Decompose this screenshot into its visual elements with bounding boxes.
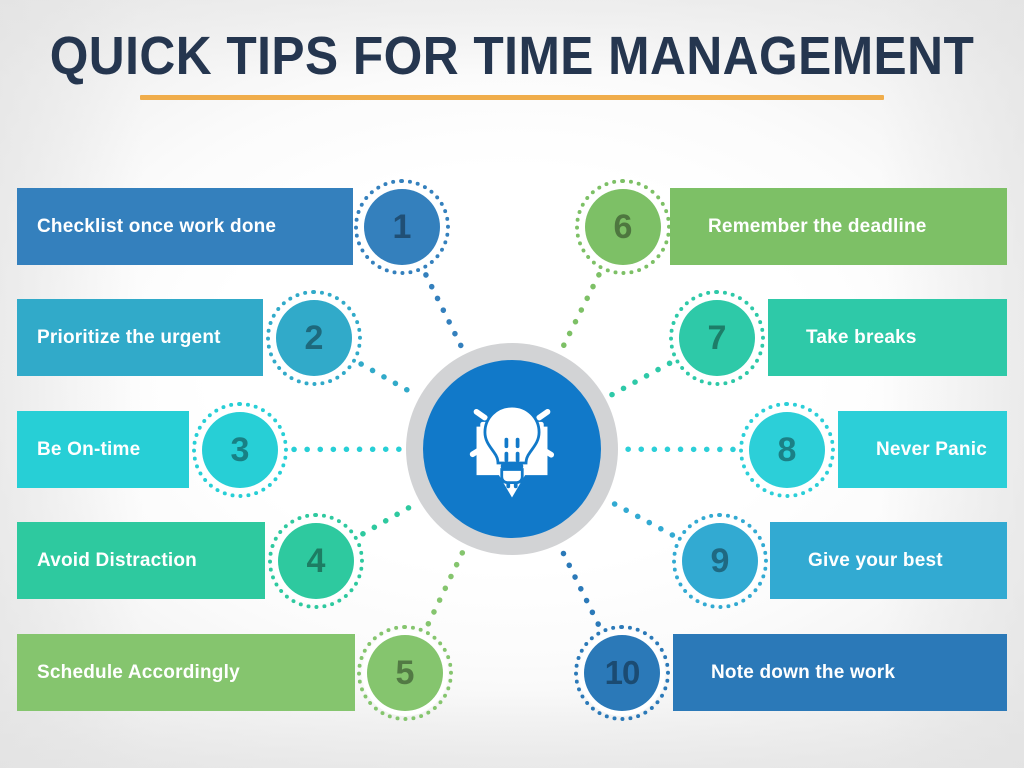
tip-number-badge[interactable]: 10 <box>572 623 672 723</box>
title-underline <box>140 95 884 100</box>
badge-disc: 9 <box>682 523 758 599</box>
badge-disc: 8 <box>749 412 825 488</box>
badge-number: 6 <box>614 210 633 244</box>
tip-number-badge[interactable]: 6 <box>573 177 673 277</box>
badge-number: 10 <box>605 656 640 689</box>
badge-disc: 6 <box>585 189 661 265</box>
lightbulb-pin-icon <box>456 393 568 505</box>
tip-number-badge[interactable]: 9 <box>670 511 770 611</box>
badge-disc: 10 <box>584 635 660 711</box>
tip-bar[interactable]: Take breaks <box>768 299 1007 376</box>
tip-row[interactable]: Remember the deadline6 <box>0 188 1024 265</box>
badge-number: 9 <box>711 544 730 578</box>
page-title: QUICK TIPS FOR TIME MANAGEMENT <box>41 28 983 85</box>
badge-number: 8 <box>778 433 797 467</box>
badge-disc: 7 <box>679 300 755 376</box>
tip-label: Give your best <box>808 550 943 572</box>
tip-bar[interactable]: Never Panic <box>838 411 1007 488</box>
infographic-canvas: QUICK TIPS FOR TIME MANAGEMENT Checklist… <box>0 0 1024 768</box>
tip-bar[interactable]: Note down the work <box>673 634 1007 711</box>
tip-label: Take breaks <box>806 327 917 349</box>
tip-bar[interactable]: Remember the deadline <box>670 188 1007 265</box>
hub-disc <box>423 360 601 538</box>
badge-number: 7 <box>708 321 727 355</box>
tip-number-badge[interactable]: 7 <box>667 288 767 388</box>
tip-label: Never Panic <box>876 439 987 461</box>
header: QUICK TIPS FOR TIME MANAGEMENT <box>0 28 1024 100</box>
tip-bar[interactable]: Give your best <box>770 522 1007 599</box>
tip-row[interactable]: Note down the work10 <box>0 634 1024 711</box>
tip-label: Note down the work <box>711 662 895 684</box>
tip-label: Remember the deadline <box>708 216 927 238</box>
center-hub <box>406 343 618 555</box>
tip-number-badge[interactable]: 8 <box>737 400 837 500</box>
